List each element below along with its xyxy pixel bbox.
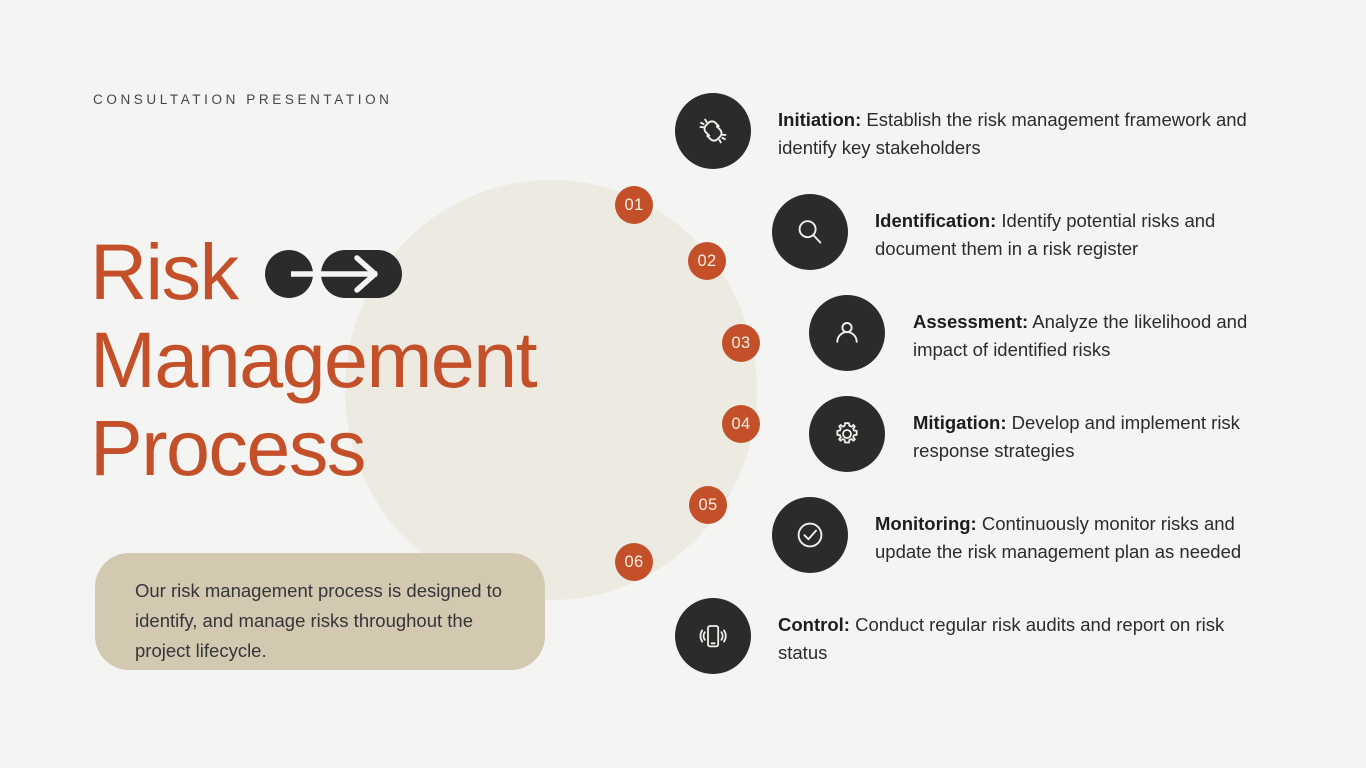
eyebrow-label: CONSULTATION PRESENTATION — [93, 92, 393, 107]
step-badge-02[interactable]: 02 — [688, 242, 726, 280]
search-icon — [772, 194, 848, 270]
step-text-03: Assessment: Analyze the likelihood and i… — [913, 295, 1273, 364]
step-item-05[interactable]: Monitoring: Continuously monitor risks a… — [772, 497, 1292, 573]
broken-link-icon — [675, 93, 751, 169]
step-badge-05[interactable]: 05 — [689, 486, 727, 524]
caption-box: Our risk management process is designed … — [95, 553, 545, 670]
step-term-06: Control: — [778, 614, 850, 635]
step-term-04: Mitigation: — [913, 412, 1007, 433]
step-term-05: Monitoring: — [875, 513, 977, 534]
step-text-05: Monitoring: Continuously monitor risks a… — [875, 497, 1285, 566]
step-term-01: Initiation: — [778, 109, 861, 130]
user-icon — [809, 295, 885, 371]
title-line-1: Risk — [90, 228, 650, 316]
check-circle-icon — [772, 497, 848, 573]
title-word-risk: Risk — [90, 228, 238, 316]
page-title: Risk Management Process — [90, 228, 650, 492]
arrow-decoration-icon — [265, 250, 402, 298]
step-text-06: Control: Conduct regular risk audits and… — [778, 598, 1258, 667]
step-text-02: Identification: Identify potential risks… — [875, 194, 1275, 263]
vibrating-phone-icon — [675, 598, 751, 674]
step-badge-06[interactable]: 06 — [615, 543, 653, 581]
step-item-06[interactable]: Control: Conduct regular risk audits and… — [675, 598, 1275, 674]
title-line-3: Process — [90, 404, 650, 492]
step-text-01: Initiation: Establish the risk managemen… — [778, 93, 1268, 162]
step-item-01[interactable]: Initiation: Establish the risk managemen… — [675, 93, 1275, 169]
step-badge-01[interactable]: 01 — [615, 186, 653, 224]
step-item-02[interactable]: Identification: Identify potential risks… — [772, 194, 1282, 270]
step-badge-03[interactable]: 03 — [722, 324, 760, 362]
caption-text: Our risk management process is designed … — [135, 576, 525, 666]
step-item-04[interactable]: Mitigation: Develop and implement risk r… — [809, 396, 1289, 472]
step-term-03: Assessment: — [913, 311, 1028, 332]
step-term-02: Identification: — [875, 210, 996, 231]
step-item-03[interactable]: Assessment: Analyze the likelihood and i… — [809, 295, 1279, 371]
step-text-04: Mitigation: Develop and implement risk r… — [913, 396, 1289, 465]
step-badge-04[interactable]: 04 — [722, 405, 760, 443]
gear-icon — [809, 396, 885, 472]
slide-canvas: CONSULTATION PRESENTATION Risk Managemen… — [0, 0, 1366, 768]
title-line-2: Management — [90, 316, 650, 404]
